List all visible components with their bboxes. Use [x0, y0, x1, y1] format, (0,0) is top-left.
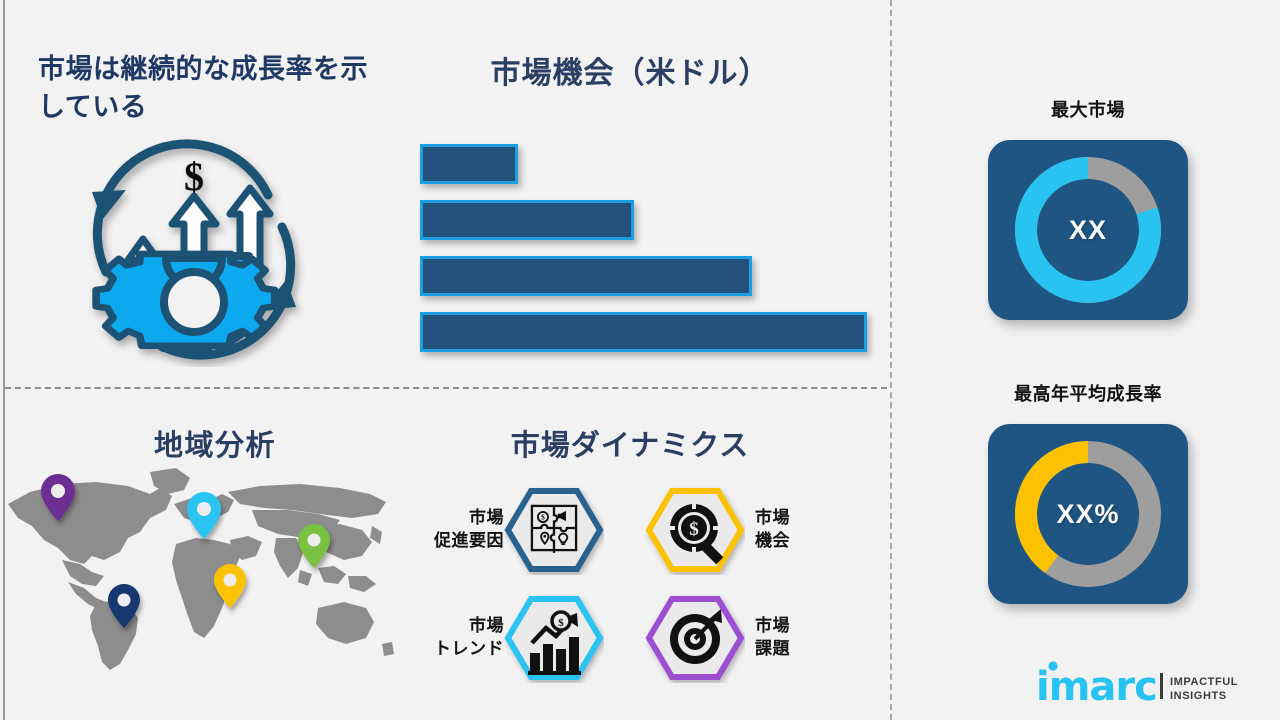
dynamics-item-drivers-label: 市場 促進要因 [408, 507, 504, 553]
svg-text:$: $ [558, 617, 564, 629]
logo-wordmark: imarc [1036, 664, 1157, 706]
bar-3 [420, 256, 752, 296]
vertical-dashed-divider [890, 0, 892, 720]
growth-cycle-gear-icon: $ [68, 132, 320, 367]
opportunity-heading: 市場機会（米ドル） [420, 48, 840, 92]
opportunity-bar-chart [420, 144, 880, 352]
highest-cagr-value: XX% [988, 424, 1188, 604]
dynamics-item-trends[interactable]: 市場 トレンド $ [408, 593, 604, 683]
bar-2 [420, 200, 634, 240]
bar-1 [420, 144, 518, 184]
highest-cagr-heading: 最高年平均成長率 [948, 380, 1228, 406]
dynamics-heading: 市場ダイナミクス [420, 422, 840, 464]
growth-heading: 市場は継続的な成長率を示している [38, 50, 388, 127]
logo-tagline-line2: INSIGHTS [1170, 690, 1227, 702]
logo-divider [1160, 673, 1163, 699]
dynamics-item-drivers[interactable]: 市場 促進要因 $ [408, 485, 604, 575]
svg-text:$: $ [184, 154, 204, 199]
dynamics-item-opportunities[interactable]: $ 市場 機会 [645, 485, 851, 575]
imarc-logo: imarc IMPACTFUL INSIGHTS [1036, 660, 1251, 706]
svg-text:$: $ [541, 513, 545, 522]
bar-4 [420, 312, 867, 352]
horizontal-dashed-divider [5, 387, 887, 389]
dynamics-item-challenges-hex [645, 593, 745, 683]
map-pin-north-america [41, 474, 75, 680]
dynamics-item-drivers-hex: $ [504, 485, 604, 575]
dynamics-item-challenges[interactable]: 市場 課題 [645, 593, 851, 683]
largest-market-value: XX [988, 140, 1188, 320]
dynamics-item-trends-label: 市場 トレンド [408, 615, 504, 661]
largest-market-panel: XX [988, 140, 1188, 320]
largest-market-heading: 最大市場 [948, 96, 1228, 122]
dynamics-item-opportunities-label: 市場 機会 [755, 507, 851, 553]
highest-cagr-panel: XX% [988, 424, 1188, 604]
map-pin-europe [187, 492, 221, 539]
slide-canvas: 市場は継続的な成長率を示している $ [0, 0, 1280, 720]
svg-text:$: $ [689, 519, 699, 540]
dynamics-item-trends-hex: $ [504, 593, 604, 683]
world-map [0, 452, 400, 680]
dynamics-item-opportunities-hex: $ [645, 485, 745, 575]
dynamics-item-challenges-label: 市場 課題 [755, 615, 851, 661]
logo-tagline-line1: IMPACTFUL [1170, 676, 1238, 688]
map-pin-asia-pacific [298, 524, 330, 568]
